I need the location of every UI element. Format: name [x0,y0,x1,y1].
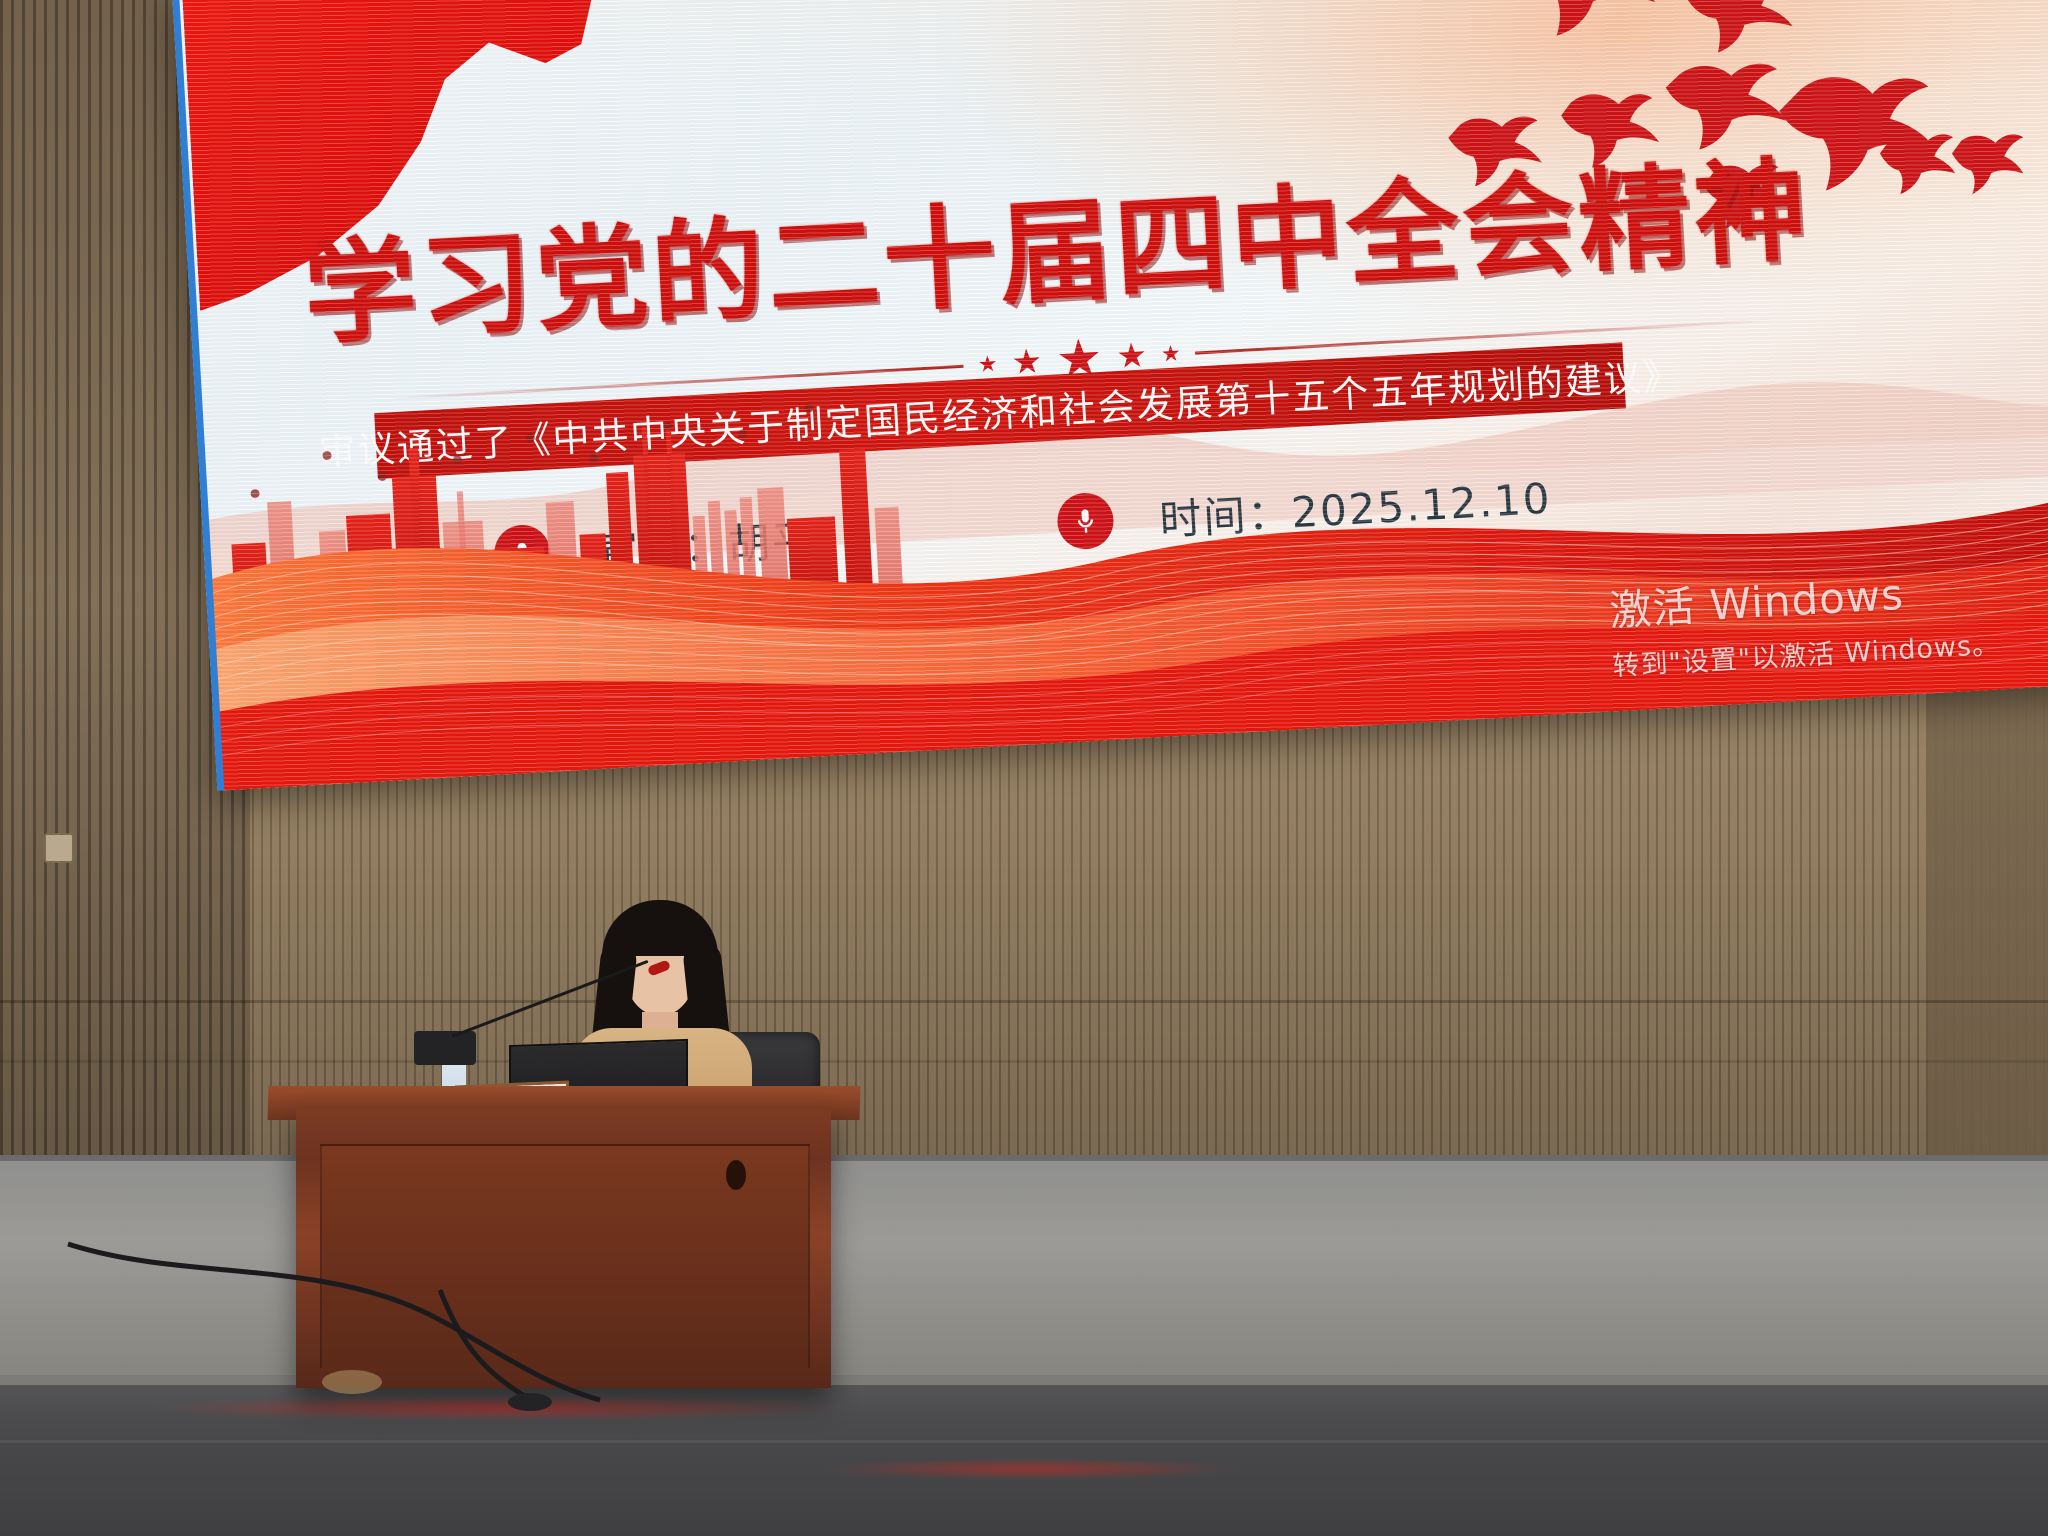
microphone-base [414,1031,476,1065]
floor-line [0,1440,2048,1443]
floor-cables [60,1230,760,1430]
floor-red-reflection [820,1458,1240,1480]
screen-bezel [172,0,2048,791]
led-presentation-screen: 学习党的二十届四中全会精神 ★ ★ ★ ★ ★ 审议通过了《中共中央关于制定国民… [172,0,2048,791]
auditorium-scene: 学习党的二十届四中全会精神 ★ ★ ★ ★ ★ 审议通过了《中共中央关于制定国民… [0,0,2048,1536]
wall-seam [0,1060,2048,1063]
wall-seam [0,1000,2048,1003]
wall-power-outlet [44,833,74,863]
gooseneck-microphone [452,1035,454,1037]
podium-speaker-hole [726,1160,746,1190]
